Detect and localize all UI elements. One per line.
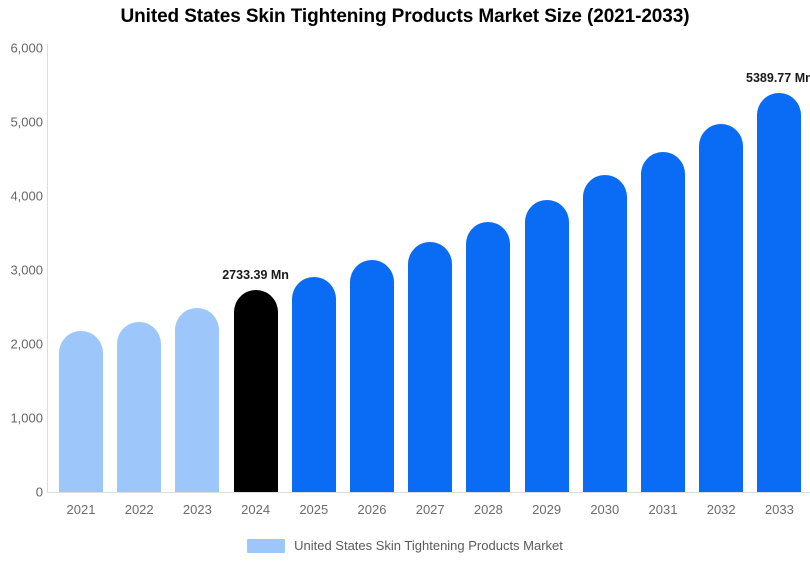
legend-label: United States Skin Tightening Products M…: [294, 538, 563, 553]
bar-2029[interactable]: [525, 200, 569, 492]
x-axis-tick-label-2032: 2032: [699, 502, 743, 517]
y-axis-tick-label: 4,000: [1, 189, 43, 204]
legend-swatch-icon: [247, 539, 285, 553]
bar-2024[interactable]: [234, 290, 278, 492]
x-axis-tick-label-2033: 2033: [757, 502, 801, 517]
bar-2021[interactable]: [59, 331, 103, 492]
x-axis-tick-label-2026: 2026: [350, 502, 394, 517]
x-axis-tick-label-2031: 2031: [641, 502, 685, 517]
bar-2023[interactable]: [175, 308, 219, 492]
x-axis-tick-label-2023: 2023: [175, 502, 219, 517]
bar-2033[interactable]: [757, 93, 801, 492]
x-axis-tick-label-2021: 2021: [59, 502, 103, 517]
bar-2022[interactable]: [117, 322, 161, 492]
x-axis-tick-label-2028: 2028: [466, 502, 510, 517]
bar-2026[interactable]: [350, 260, 394, 492]
y-axis-tick-label: 3,000: [1, 263, 43, 278]
x-axis-tick-label-2022: 2022: [117, 502, 161, 517]
bar-2030[interactable]: [583, 175, 627, 492]
bar-2031[interactable]: [641, 152, 685, 492]
chart-legend: United States Skin Tightening Products M…: [0, 538, 810, 553]
bar-2025[interactable]: [292, 277, 336, 492]
x-axis-tick-label-2025: 2025: [292, 502, 336, 517]
data-label-2033: 5389.77 Mn: [746, 71, 810, 85]
x-axis-tick-label-2024: 2024: [234, 502, 278, 517]
y-axis-tick-label: 5,000: [1, 115, 43, 130]
chart-title: United States Skin Tightening Products M…: [0, 6, 810, 28]
y-axis-tick-label: 6,000: [1, 41, 43, 56]
y-axis: 6,0005,0004,0003,0002,0001,0000: [0, 0, 43, 562]
y-axis-tick-label: 2,000: [1, 337, 43, 352]
chart-container: United States Skin Tightening Products M…: [0, 0, 810, 562]
x-axis-tick-label-2030: 2030: [583, 502, 627, 517]
data-label-2024: 2733.39 Mn: [222, 268, 289, 282]
bar-2028[interactable]: [466, 222, 510, 492]
y-axis-tick-label: 0: [1, 485, 43, 500]
x-axis-tick-label-2029: 2029: [525, 502, 569, 517]
x-axis-tick-label-2027: 2027: [408, 502, 452, 517]
bar-2032[interactable]: [699, 124, 743, 492]
bar-2027[interactable]: [408, 242, 452, 492]
y-axis-tick-label: 1,000: [1, 411, 43, 426]
